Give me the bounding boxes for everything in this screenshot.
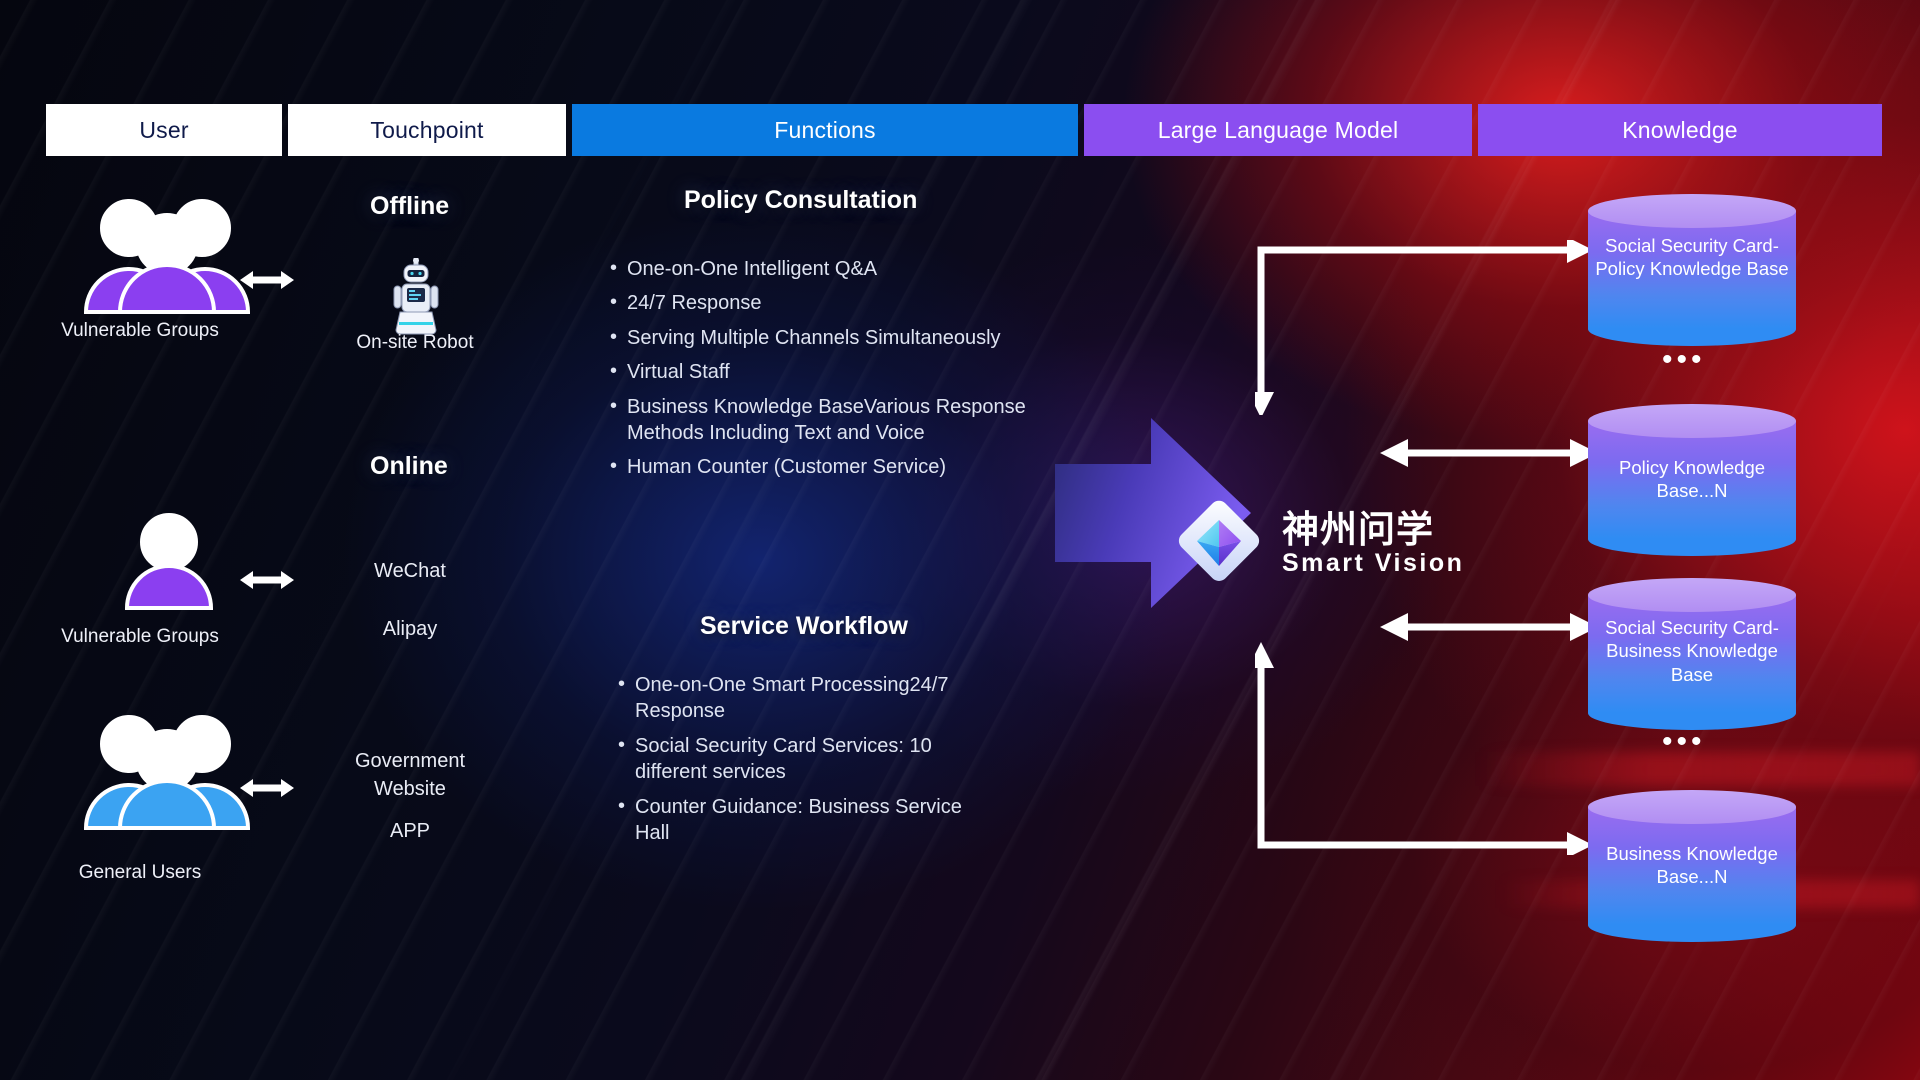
touchpoint-label-wechat[interactable]: WeChat [285, 558, 535, 586]
touchpoint-heading-online: Online [370, 452, 448, 481]
column-header-bar: User Touchpoint Functions Large Language… [46, 104, 1882, 156]
knowledge-base-cylinder-4[interactable]: Business Knowledge Base...N [1588, 790, 1796, 942]
header-user[interactable]: User [46, 104, 282, 156]
knowledge-base-label-2: Policy Knowledge Base...N [1588, 456, 1796, 503]
user-label-general-users: General Users [30, 862, 250, 884]
cylinder-top-ellipse [1588, 194, 1796, 228]
list-item: Business Knowledge BaseVarious Response … [610, 394, 1048, 447]
knowledge-base-label-1: Social Security Card-Policy Knowledge Ba… [1588, 234, 1796, 281]
llm-name-chinese: 神州问学 [1282, 510, 1464, 549]
header-knowledge[interactable]: Knowledge [1478, 104, 1882, 156]
header-functions[interactable]: Functions [572, 104, 1078, 156]
cylinder-top-ellipse [1588, 790, 1796, 824]
user-label-vulnerable-groups-online: Vulnerable Groups [30, 626, 250, 648]
ellipsis-1: ••• [1662, 345, 1706, 375]
llm-name-english: Smart Vision [1282, 549, 1464, 578]
knowledge-base-label-4: Business Knowledge Base...N [1588, 842, 1796, 889]
llm-logo-block: 神州问学 Smart Vision [1172, 494, 1464, 593]
touchpoint-label-government-website-line1[interactable]: Government [285, 748, 535, 776]
ellipsis-2: ••• [1662, 727, 1706, 757]
header-touchpoint[interactable]: Touchpoint [288, 104, 566, 156]
list-item: Counter Guidance: Business Service Hall [618, 794, 998, 847]
cylinder-top-ellipse [1588, 578, 1796, 612]
touchpoint-label-alipay[interactable]: Alipay [285, 616, 535, 644]
list-item: One-on-One Intelligent Q&A [610, 256, 1048, 282]
user-icon-vulnerable-groups-offline [78, 196, 256, 319]
list-item: 24/7 Response [610, 290, 1048, 316]
user-label-vulnerable-groups-offline: Vulnerable Groups [30, 320, 250, 342]
touchpoint-label-app[interactable]: APP [285, 818, 535, 846]
list-item: Human Counter (Customer Service) [610, 454, 1048, 480]
knowledge-base-cylinder-3[interactable]: Social Security Card-Business Knowledge … [1588, 578, 1796, 730]
list-item: Social Security Card Services: 10 differ… [618, 733, 998, 786]
knowledge-base-cylinder-2[interactable]: Policy Knowledge Base...N [1588, 404, 1796, 556]
policy-consultation-bullet-list: One-on-One Intelligent Q&A 24/7 Response… [610, 256, 1048, 489]
list-item: One-on-One Smart Processing24/7 Response [618, 672, 998, 725]
list-item: Serving Multiple Channels Simultaneously [610, 325, 1048, 351]
diagram-canvas: User Touchpoint Functions Large Language… [0, 0, 1920, 1080]
connector-arrow-kb-2 [1378, 438, 1600, 468]
connector-arrow-kb-4 [1255, 640, 1600, 855]
service-workflow-bullet-list: One-on-One Smart Processing24/7 Response… [618, 672, 998, 854]
connector-arrow-kb-3 [1378, 612, 1600, 642]
user-icon-general-users [78, 712, 256, 835]
header-large-language-model[interactable]: Large Language Model [1084, 104, 1472, 156]
knowledge-base-label-3: Social Security Card-Business Knowledge … [1588, 616, 1796, 686]
diamond-logo-icon [1172, 494, 1266, 593]
arrow-user-to-touchpoint-1 [238, 267, 296, 298]
cylinder-top-ellipse [1588, 404, 1796, 438]
touchpoint-label-government-website-line2[interactable]: Website [285, 776, 535, 804]
connector-arrow-kb-1 [1255, 240, 1600, 415]
robot-icon [390, 258, 442, 341]
touchpoint-label-on-site-robot[interactable]: On-site Robot [300, 332, 530, 354]
functions-title-service-workflow: Service Workflow [700, 612, 908, 641]
list-item: Virtual Staff [610, 359, 1048, 385]
user-icon-vulnerable-groups-online [124, 512, 214, 615]
touchpoint-heading-offline: Offline [370, 192, 449, 221]
knowledge-base-cylinder-1[interactable]: Social Security Card-Policy Knowledge Ba… [1588, 194, 1796, 346]
functions-title-policy-consultation: Policy Consultation [684, 186, 917, 215]
